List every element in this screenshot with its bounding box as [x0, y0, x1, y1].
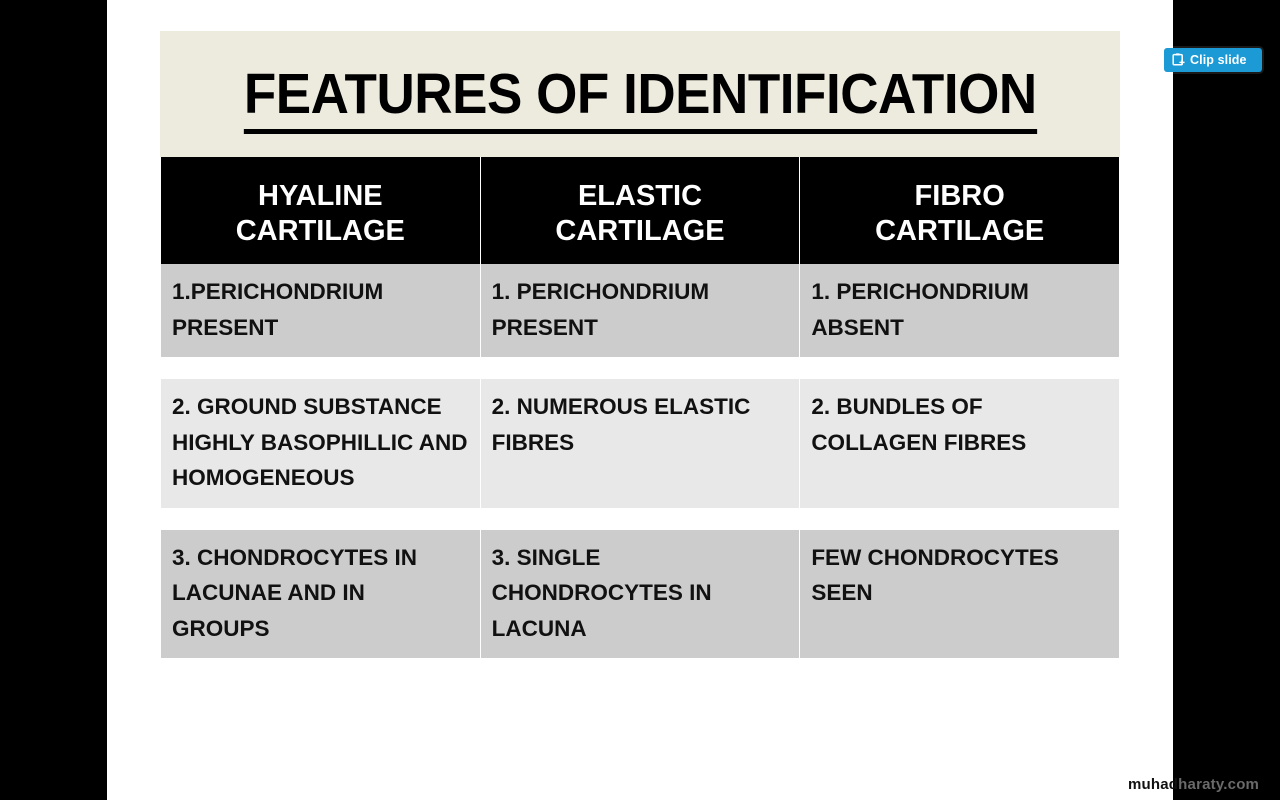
table-row-divider-cell — [800, 357, 1119, 379]
clip-slide-button[interactable]: Clip slide — [1164, 48, 1262, 72]
table-header: HYALINE CARTILAGE ELASTIC CARTILAGE FIBR… — [161, 157, 1119, 264]
cell-elastic-1: 1. PERICHONDRIUM PRESENT — [481, 264, 800, 357]
table-row-divider-cell — [161, 357, 480, 379]
cell-fibro-1: 1. PERICHONDRIUM ABSENT — [800, 264, 1119, 357]
column-header-hyaline-line2: CARTILAGE — [172, 214, 469, 249]
cell-fibro-3: FEW CHONDROCYTES SEEN — [800, 530, 1119, 659]
column-header-hyaline: HYALINE CARTILAGE — [161, 157, 480, 264]
column-header-fibro-line2: CARTILAGE — [811, 214, 1108, 249]
page-title: FEATURES OF IDENTIFICATION — [244, 65, 1037, 135]
cell-hyaline-1: 1.PERICHONDRIUM PRESENT — [161, 264, 480, 357]
table-row-divider-cell — [481, 357, 800, 379]
cell-elastic-2: 2. NUMEROUS ELASTIC FIBRES — [481, 379, 800, 508]
table-body: 1.PERICHONDRIUM PRESENT 1. PERICHONDRIUM… — [161, 264, 1119, 658]
table-header-row: HYALINE CARTILAGE ELASTIC CARTILAGE FIBR… — [161, 157, 1119, 264]
title-banner: FEATURES OF IDENTIFICATION — [160, 31, 1120, 168]
table-row: 2. GROUND SUBSTANCE HIGHLY BASOPHILLIC A… — [161, 379, 1119, 508]
table-row-divider-cell — [800, 508, 1119, 530]
cartilage-comparison-table: HYALINE CARTILAGE ELASTIC CARTILAGE FIBR… — [160, 157, 1120, 658]
column-header-fibro-line1: FIBRO — [811, 179, 1108, 214]
table-row-divider-cell — [161, 508, 480, 530]
column-header-elastic: ELASTIC CARTILAGE — [481, 157, 800, 264]
watermark-text-faded: haraty.com — [1178, 776, 1259, 793]
site-watermark: muhadharaty.com — [1128, 776, 1259, 793]
cell-elastic-3: 3. SINGLE CHONDROCYTES IN LACUNA — [481, 530, 800, 659]
table-row-divider-cell — [481, 508, 800, 530]
table-row-divider — [161, 508, 1119, 530]
slide-viewer: FEATURES OF IDENTIFICATION HYALINE CARTI… — [0, 0, 1280, 800]
table-row-divider — [161, 357, 1119, 379]
cell-fibro-2: 2. BUNDLES OF COLLAGEN FIBRES — [800, 379, 1119, 508]
cell-hyaline-2: 2. GROUND SUBSTANCE HIGHLY BASOPHILLIC A… — [161, 379, 480, 508]
clip-slide-label: Clip slide — [1190, 54, 1247, 67]
column-header-elastic-line2: CARTILAGE — [492, 214, 789, 249]
watermark-text-visible: muhad — [1128, 776, 1178, 793]
column-header-fibro: FIBRO CARTILAGE — [800, 157, 1119, 264]
cell-hyaline-3: 3. CHONDROCYTES IN LACUNAE AND IN GROUPS — [161, 530, 480, 659]
column-header-elastic-line1: ELASTIC — [492, 179, 789, 214]
table-row: 3. CHONDROCYTES IN LACUNAE AND IN GROUPS… — [161, 530, 1119, 659]
column-header-hyaline-line1: HYALINE — [172, 179, 469, 214]
letterbox-right — [1173, 0, 1280, 800]
table-row: 1.PERICHONDRIUM PRESENT 1. PERICHONDRIUM… — [161, 264, 1119, 357]
letterbox-left — [0, 0, 107, 800]
clip-slide-icon — [1172, 53, 1185, 67]
slide-canvas: FEATURES OF IDENTIFICATION HYALINE CARTI… — [107, 0, 1173, 800]
